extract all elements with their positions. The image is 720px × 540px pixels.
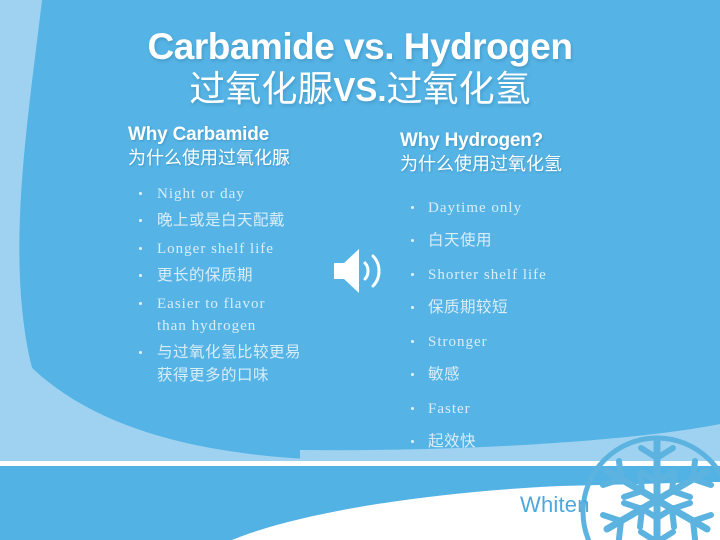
list-item-text: Faster bbox=[428, 401, 471, 417]
bullet-dot-icon bbox=[139, 302, 142, 305]
list-item-text-line2: 获得更多的口味 bbox=[157, 365, 378, 388]
list-item: 晚上或是白天配戴 bbox=[128, 210, 378, 233]
title-block: Carbamide vs. Hydrogen 过氧化脲VS.过氧化氢 bbox=[0, 28, 720, 110]
list-item: 敏感 bbox=[400, 364, 650, 387]
list-item-text: 敏感 bbox=[428, 366, 460, 383]
bullet-dot-icon bbox=[411, 239, 414, 242]
column-hydrogen: Why Hydrogen? 为什么使用过氧化氢 Daytime only 白天使… bbox=[400, 130, 650, 465]
list-item-text: Easier to flavor bbox=[157, 296, 265, 312]
page-title-zh-left: 过氧化脲 bbox=[189, 69, 333, 109]
list-item: Daytime only bbox=[400, 197, 650, 219]
page-title-vs: VS. bbox=[333, 71, 386, 108]
list-item-text: 晚上或是白天配戴 bbox=[157, 212, 285, 229]
slide-canvas: Carbamide vs. Hydrogen 过氧化脲VS.过氧化氢 Why C… bbox=[0, 0, 720, 540]
list-item: Faster bbox=[400, 398, 650, 420]
speaker-body bbox=[334, 249, 359, 293]
list-item-text: 保质期较短 bbox=[428, 299, 508, 316]
bullet-dot-icon bbox=[411, 273, 414, 276]
snowflake-icon bbox=[594, 438, 720, 540]
bullet-dot-icon bbox=[139, 219, 142, 222]
column-right-heading-en: Why Hydrogen? bbox=[400, 130, 650, 152]
speaker-wave-outer bbox=[373, 256, 379, 286]
column-left-heading-en: Why Carbamide bbox=[128, 124, 378, 146]
list-item: Easier to flavor than hydrogen bbox=[128, 293, 378, 337]
list-item: 与过氧化氢比较更易 获得更多的口味 bbox=[128, 342, 378, 388]
list-item: 白天使用 bbox=[400, 230, 650, 253]
list-item: 保质期较短 bbox=[400, 297, 650, 320]
list-item-text: Shorter shelf life bbox=[428, 267, 547, 283]
bullet-dot-icon bbox=[411, 306, 414, 309]
column-left-heading-zh: 为什么使用过氧化脲 bbox=[128, 147, 378, 170]
speaker-sound-icon[interactable] bbox=[330, 243, 390, 299]
bullet-dot-icon bbox=[139, 274, 142, 277]
list-item-text: 白天使用 bbox=[428, 232, 492, 249]
bullet-dot-icon bbox=[139, 351, 142, 354]
page-title-en: Carbamide vs. Hydrogen bbox=[0, 28, 720, 67]
list-item: Shorter shelf life bbox=[400, 264, 650, 286]
brand-label: Whiten bbox=[520, 492, 590, 518]
list-item: Night or day bbox=[128, 183, 378, 205]
bullet-dot-icon bbox=[411, 206, 414, 209]
bullet-dot-icon bbox=[411, 407, 414, 410]
speaker-wave-inner bbox=[365, 263, 368, 279]
page-title-zh-right: 过氧化氢 bbox=[387, 69, 531, 109]
bullet-dot-icon bbox=[411, 373, 414, 376]
list-item-text: Stronger bbox=[428, 334, 488, 350]
list-item-text: 起效快 bbox=[428, 433, 476, 450]
list-item-text: 更长的保质期 bbox=[157, 267, 253, 284]
bullet-dot-icon bbox=[139, 192, 142, 195]
list-item-text: Night or day bbox=[157, 186, 245, 202]
list-item-text: Longer shelf life bbox=[157, 241, 274, 257]
page-title-zh: 过氧化脲VS.过氧化氢 bbox=[0, 69, 720, 110]
list-item-text: Daytime only bbox=[428, 200, 522, 216]
bullet-dot-icon bbox=[411, 340, 414, 343]
list-item: Stronger bbox=[400, 331, 650, 353]
list-item-text: 与过氧化氢比较更易 bbox=[157, 344, 301, 361]
column-right-bullet-list: Daytime only 白天使用 Shorter shelf life 保质期… bbox=[400, 197, 650, 453]
bullet-dot-icon bbox=[411, 440, 414, 443]
list-item-text-line2: than hydrogen bbox=[157, 315, 378, 337]
bullet-dot-icon bbox=[139, 247, 142, 250]
column-right-heading-zh: 为什么使用过氧化氢 bbox=[400, 153, 650, 176]
